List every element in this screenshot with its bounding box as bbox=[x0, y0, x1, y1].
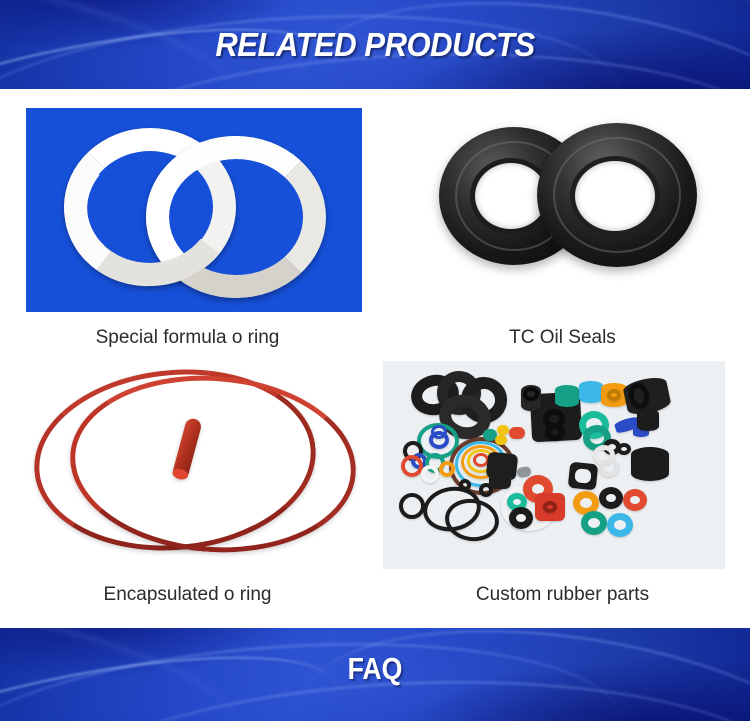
rubber-part-shape bbox=[495, 435, 507, 445]
faq-title-wrap: FAQ bbox=[0, 628, 750, 721]
product-card-custom-rubber-parts[interactable]: Custom rubber parts bbox=[375, 352, 750, 617]
rubber-part-shape bbox=[617, 443, 631, 455]
rubber-part-shape bbox=[599, 459, 619, 477]
related-products-page: RELATED PRODUCTS Special formula o ring … bbox=[0, 0, 750, 721]
rubber-part-shape bbox=[431, 425, 447, 439]
white-o-rings-photo[interactable] bbox=[26, 108, 362, 312]
black-oil-seals-photo[interactable] bbox=[397, 99, 729, 311]
product-caption: Encapsulated o ring bbox=[0, 584, 375, 606]
rubber-part-shape bbox=[581, 511, 607, 535]
rubber-part-shape bbox=[579, 381, 603, 403]
rubber-part-shape bbox=[631, 447, 669, 481]
rubber-part-shape bbox=[489, 473, 511, 489]
product-card-tc-oil-seals[interactable]: TC Oil Seals bbox=[375, 89, 750, 352]
product-card-special-formula-o-ring[interactable]: Special formula o ring bbox=[0, 89, 375, 352]
product-grid: Special formula o ring TC Oil Seals Enca… bbox=[0, 89, 750, 628]
red-encapsulated-o-rings-photo[interactable] bbox=[24, 358, 358, 570]
rubber-part-shape bbox=[607, 513, 633, 537]
product-caption: Special formula o ring bbox=[0, 327, 375, 349]
rubber-part-shape bbox=[545, 423, 565, 441]
oil-seal-shape bbox=[537, 123, 697, 267]
rubber-part-shape bbox=[574, 468, 591, 484]
rubber-part-shape bbox=[607, 389, 621, 401]
rubber-part-shape bbox=[439, 461, 455, 477]
rubber-part-shape bbox=[509, 507, 533, 529]
rubber-part-shape bbox=[555, 385, 579, 407]
rubber-part-shape bbox=[401, 455, 423, 477]
product-card-encapsulated-o-ring[interactable]: Encapsulated o ring bbox=[0, 352, 375, 617]
header-banner: RELATED PRODUCTS bbox=[0, 0, 750, 89]
rubber-part-shape bbox=[637, 409, 659, 431]
rubber-part-shape bbox=[459, 479, 471, 491]
faq-banner: FAQ bbox=[0, 628, 750, 721]
product-caption: Custom rubber parts bbox=[375, 584, 750, 606]
rubber-part-shape bbox=[523, 387, 539, 401]
rubber-part-shape bbox=[509, 427, 525, 439]
rubber-part-shape bbox=[599, 487, 623, 509]
faq-banner-title: FAQ bbox=[53, 651, 698, 687]
product-caption: TC Oil Seals bbox=[375, 327, 750, 349]
rubber-part-shape bbox=[497, 425, 509, 435]
rubber-part-shape bbox=[623, 489, 647, 511]
rubber-part-shape bbox=[543, 501, 557, 513]
header-banner-title: RELATED PRODUCTS bbox=[23, 26, 728, 64]
rubber-part-shape bbox=[399, 493, 425, 519]
rubber-part-shape bbox=[421, 465, 439, 483]
assorted-rubber-parts-photo[interactable] bbox=[383, 361, 725, 569]
